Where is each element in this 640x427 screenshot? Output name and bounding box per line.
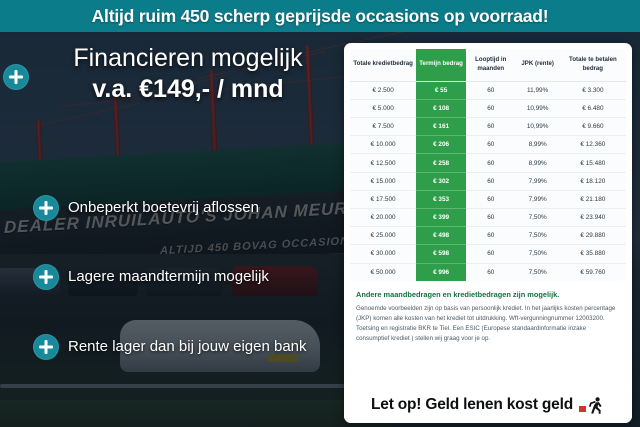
column-header-total-credit: Totale kredietbedrag — [350, 49, 416, 81]
disclaimer-block: Andere maandbedragen en kredietbedragen … — [356, 290, 620, 345]
table-cell: € 25.000 — [350, 227, 416, 245]
benefit-item-1: Onbeperkt boetevrij aflossen — [33, 195, 259, 221]
table-cell: € 6.480 — [560, 99, 626, 117]
table-cell: € 10.000 — [350, 136, 416, 154]
benefit-label: Lagere maandtermijn mogelijk — [68, 268, 269, 285]
table-cell: € 30.000 — [350, 245, 416, 263]
table-cell: € 12.500 — [350, 154, 416, 172]
table-cell: 7,50% — [516, 208, 560, 226]
credit-warning: Let op! Geld lenen kost geld — [344, 389, 632, 423]
table-cell: 60 — [466, 245, 516, 263]
table-cell: € 498 — [416, 227, 466, 245]
finance-table-panel: Totale kredietbedrag Termijn bedrag Loop… — [344, 43, 632, 423]
benefit-item-3: Rente lager dan bij jouw eigen bank — [33, 334, 307, 360]
table-cell: 7,50% — [516, 227, 560, 245]
table-cell: € 59.760 — [560, 263, 626, 281]
table-row: € 2.500€ 556011,99%€ 3.300 — [350, 81, 626, 99]
table-cell: 7,50% — [516, 245, 560, 263]
banner-headline: Altijd ruim 450 scherp geprijsde occasio… — [92, 6, 549, 27]
table-cell: € 23.940 — [560, 208, 626, 226]
table-cell: € 50.000 — [350, 263, 416, 281]
table-cell: 10,99% — [516, 118, 560, 136]
finance-table-wrapper: Totale kredietbedrag Termijn bedrag Loop… — [350, 49, 626, 281]
table-cell: 7,50% — [516, 263, 560, 281]
afm-walking-man-icon — [579, 397, 605, 414]
table-row: € 20.000€ 399607,50%€ 23.940 — [350, 208, 626, 226]
table-cell: € 161 — [416, 118, 466, 136]
table-cell: € 598 — [416, 245, 466, 263]
table-cell: € 3.300 — [560, 81, 626, 99]
table-row: € 12.500€ 258608,99%€ 15.480 — [350, 154, 626, 172]
table-cell: 60 — [466, 99, 516, 117]
table-cell: € 55 — [416, 81, 466, 99]
benefit-label: Rente lager dan bij jouw eigen bank — [68, 338, 307, 355]
disclaimer-title: Andere maandbedragen en kredietbedragen … — [356, 290, 620, 300]
table-cell: 60 — [466, 227, 516, 245]
table-row: € 17.500€ 353607,99%€ 21.180 — [350, 190, 626, 208]
benefit-label: Onbeperkt boetevrij aflossen — [68, 199, 259, 216]
finance-headline: Financieren mogelijk v.a. €149,- / mnd — [38, 44, 338, 103]
column-header-monthly-amount: Termijn bedrag — [416, 49, 466, 81]
table-cell: € 206 — [416, 136, 466, 154]
table-cell: € 18.120 — [560, 172, 626, 190]
finance-table: Totale kredietbedrag Termijn bedrag Loop… — [350, 49, 626, 281]
table-header-row: Totale kredietbedrag Termijn bedrag Loop… — [350, 49, 626, 81]
finance-headline-line2: v.a. €149,- / mnd — [38, 75, 338, 103]
table-cell: € 353 — [416, 190, 466, 208]
column-header-duration: Looptijd in maanden — [466, 49, 516, 81]
table-cell: 60 — [466, 154, 516, 172]
table-row: € 50.000€ 996607,50%€ 59.760 — [350, 263, 626, 281]
table-cell: 60 — [466, 136, 516, 154]
table-cell: € 15.000 — [350, 172, 416, 190]
plus-icon — [33, 334, 59, 360]
table-cell: 7,99% — [516, 190, 560, 208]
table-cell: € 258 — [416, 154, 466, 172]
table-cell: 11,99% — [516, 81, 560, 99]
promo-banner-image: DEALER INRUILAUTO'S JOHAN MEURS ALTIJD 4… — [0, 0, 640, 427]
benefit-item-2: Lagere maandtermijn mogelijk — [33, 264, 269, 290]
plus-icon — [33, 264, 59, 290]
finance-headline-line1: Financieren mogelijk — [38, 44, 338, 72]
table-cell: € 108 — [416, 99, 466, 117]
column-header-total-payable: Totale te betalen bedrag — [560, 49, 626, 81]
table-cell: € 17.500 — [350, 190, 416, 208]
table-cell: € 302 — [416, 172, 466, 190]
table-row: € 10.000€ 206608,99%€ 12.360 — [350, 136, 626, 154]
plus-icon — [33, 195, 59, 221]
table-cell: € 399 — [416, 208, 466, 226]
column-header-apr: JPK (rente) — [516, 49, 560, 81]
table-cell: 7,99% — [516, 172, 560, 190]
table-cell: 60 — [466, 263, 516, 281]
table-cell: € 21.180 — [560, 190, 626, 208]
table-cell: € 29.880 — [560, 227, 626, 245]
table-cell: 60 — [466, 172, 516, 190]
credit-warning-text: Let op! Geld lenen kost geld — [371, 396, 573, 414]
table-cell: € 7.500 — [350, 118, 416, 136]
table-row: € 15.000€ 302607,99%€ 18.120 — [350, 172, 626, 190]
table-cell: 60 — [466, 81, 516, 99]
table-cell: € 996 — [416, 263, 466, 281]
table-row: € 25.000€ 498607,50%€ 29.880 — [350, 227, 626, 245]
table-cell: € 15.480 — [560, 154, 626, 172]
table-cell: € 35.880 — [560, 245, 626, 263]
table-row: € 30.000€ 598607,50%€ 35.880 — [350, 245, 626, 263]
benefits-column: Financieren mogelijk v.a. €149,- / mnd O… — [0, 32, 345, 427]
top-banner: Altijd ruim 450 scherp geprijsde occasio… — [0, 0, 640, 32]
table-cell: € 20.000 — [350, 208, 416, 226]
plus-icon — [3, 64, 29, 90]
table-cell: 10,99% — [516, 99, 560, 117]
table-cell: € 5.000 — [350, 99, 416, 117]
finance-table-body: € 2.500€ 556011,99%€ 3.300€ 5.000€ 10860… — [350, 81, 626, 281]
table-cell: € 9.660 — [560, 118, 626, 136]
table-cell: 8,99% — [516, 154, 560, 172]
table-cell: 60 — [466, 190, 516, 208]
table-cell: 8,99% — [516, 136, 560, 154]
table-row: € 7.500€ 1616010,99%€ 9.660 — [350, 118, 626, 136]
table-cell: 60 — [466, 208, 516, 226]
disclaimer-body: Genoemde voorbeelden zijn op basis van p… — [356, 304, 620, 344]
table-cell: 60 — [466, 118, 516, 136]
table-row: € 5.000€ 1086010,99%€ 6.480 — [350, 99, 626, 117]
table-cell: € 12.360 — [560, 136, 626, 154]
table-cell: € 2.500 — [350, 81, 416, 99]
